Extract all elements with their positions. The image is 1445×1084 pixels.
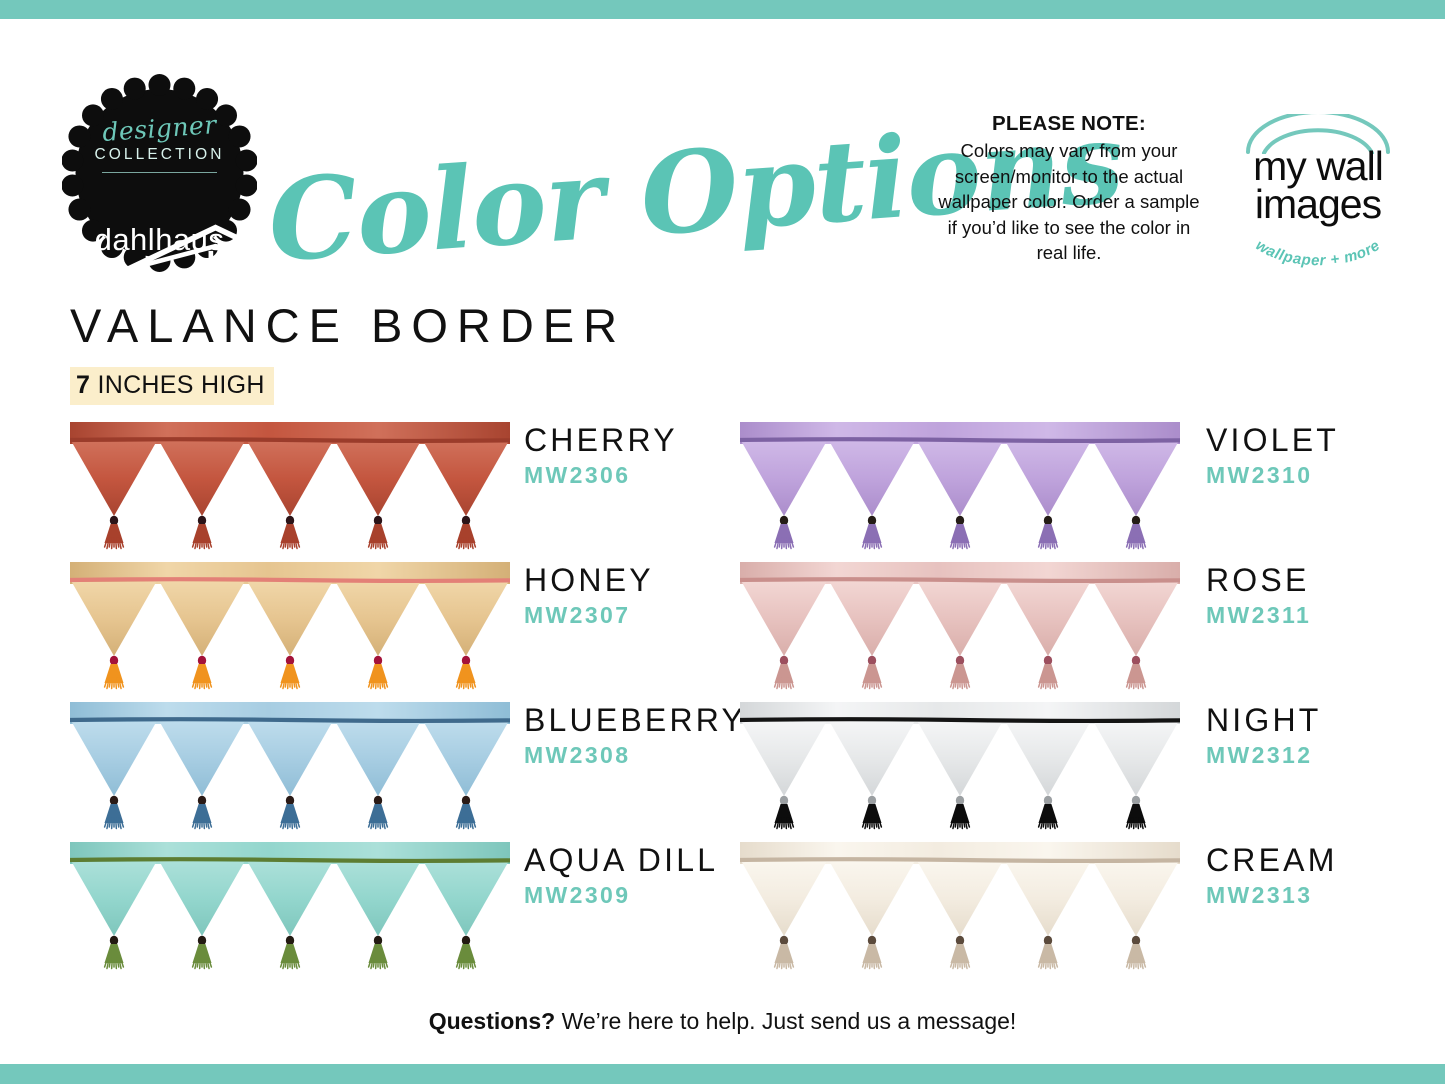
- swatch-sku-code: MW2310: [1206, 460, 1339, 490]
- swatch-label: NIGHTMW2312: [1206, 703, 1322, 770]
- swatch-sku-code: MW2309: [524, 880, 718, 910]
- valance-swatch: [70, 560, 510, 692]
- footer-rest: We’re here to help. Just send us a messa…: [555, 1008, 1016, 1034]
- valance-swatch: [70, 840, 510, 972]
- swatch-sku-code: MW2307: [524, 600, 654, 630]
- color-options-page: designer COLLECTION dahlhaus Color Optio…: [0, 0, 1445, 1084]
- swatch-label: CHERRYMW2306: [524, 423, 678, 490]
- swatch-sku-code: MW2311: [1206, 600, 1311, 630]
- swatch-label: ROSEMW2311: [1206, 563, 1311, 630]
- valance-swatch: [70, 420, 510, 552]
- valance-swatch: [740, 560, 1180, 692]
- swatch-label: AQUA DILLMW2309: [524, 843, 718, 910]
- swatch-color-name: CHERRY: [524, 423, 678, 457]
- swatch-label: VIOLETMW2310: [1206, 423, 1339, 490]
- footer-message: Questions? We’re here to help. Just send…: [0, 1008, 1445, 1035]
- valance-swatch: [740, 840, 1180, 972]
- footer-bold: Questions?: [429, 1008, 556, 1034]
- bottom-accent-bar: [0, 1064, 1445, 1084]
- swatch-label: BLUEBERRYMW2308: [524, 703, 746, 770]
- swatch-color-name: ROSE: [1206, 563, 1311, 597]
- valance-swatch: [740, 700, 1180, 832]
- swatch-sku-code: MW2308: [524, 740, 746, 770]
- swatch-color-name: AQUA DILL: [524, 843, 718, 877]
- swatch-label: HONEYMW2307: [524, 563, 654, 630]
- swatch-color-name: VIOLET: [1206, 423, 1339, 457]
- swatch-sku-code: MW2312: [1206, 740, 1322, 770]
- swatch-color-name: CREAM: [1206, 843, 1338, 877]
- swatch-label: CREAMMW2313: [1206, 843, 1338, 910]
- valance-swatch: [740, 420, 1180, 552]
- swatch-sku-code: MW2306: [524, 460, 678, 490]
- swatch-grid: CHERRYMW2306HONEYMW2307BLUEBERRYMW2308AQ…: [0, 0, 1445, 1084]
- swatch-sku-code: MW2313: [1206, 880, 1338, 910]
- valance-swatch: [70, 700, 510, 832]
- swatch-color-name: NIGHT: [1206, 703, 1322, 737]
- swatch-color-name: BLUEBERRY: [524, 703, 746, 737]
- swatch-color-name: HONEY: [524, 563, 654, 597]
